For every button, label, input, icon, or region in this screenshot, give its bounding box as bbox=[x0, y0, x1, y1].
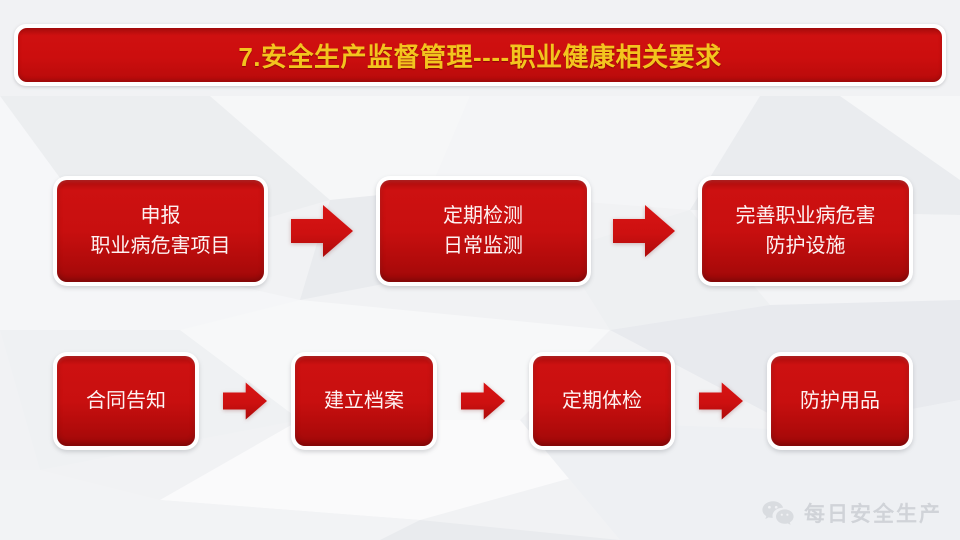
flow-node-protective-equipment[interactable]: 防护用品 bbox=[767, 352, 913, 450]
flow-node-line: 建立档案 bbox=[324, 387, 404, 415]
flow-node-periodic-physical-body: 定期体检 bbox=[533, 356, 671, 446]
wechat-icon bbox=[761, 500, 795, 526]
flow-node-build-archive[interactable]: 建立档案 bbox=[291, 352, 437, 450]
flow-node-line: 定期体检 bbox=[562, 387, 642, 415]
flow-row-1: 申报 职业病危害项目 定 bbox=[53, 176, 913, 286]
watermark: 每日安全生产 bbox=[761, 498, 942, 528]
slide-canvas: 7.安全生产监督管理----职业健康相关要求 申报 职业病危害项目 bbox=[0, 0, 960, 540]
flow-arrow-cell bbox=[675, 381, 767, 421]
flow-node-periodic-test[interactable]: 定期检测 日常监测 bbox=[376, 176, 591, 286]
arrow-right-icon bbox=[291, 203, 353, 259]
flow-node-line: 日常监测 bbox=[443, 231, 523, 261]
flow-node-protection-facility-body: 完善职业病危害 防护设施 bbox=[702, 180, 909, 282]
flow-node-build-archive-body: 建立档案 bbox=[295, 356, 433, 446]
arrow-right-icon bbox=[461, 381, 505, 421]
title-banner-inner: 7.安全生产监督管理----职业健康相关要求 bbox=[18, 28, 942, 82]
flow-node-periodic-physical[interactable]: 定期体检 bbox=[529, 352, 675, 450]
flow-node-periodic-test-body: 定期检测 日常监测 bbox=[380, 180, 587, 282]
flow-node-line: 防护用品 bbox=[800, 387, 880, 415]
flow-node-line: 完善职业病危害 bbox=[736, 201, 876, 231]
flow-arrow-cell bbox=[199, 381, 291, 421]
arrow-right-icon bbox=[613, 203, 675, 259]
watermark-text: 每日安全生产 bbox=[804, 498, 942, 528]
flow-node-declare-body: 申报 职业病危害项目 bbox=[57, 180, 264, 282]
flow-row-2: 合同告知 建立档案 定期体检 bbox=[53, 351, 913, 451]
flow-node-line: 职业病危害项目 bbox=[91, 231, 231, 261]
arrow-right-icon bbox=[223, 381, 267, 421]
flow-arrow-cell bbox=[268, 203, 376, 259]
page-title: 7.安全生产监督管理----职业健康相关要求 bbox=[238, 37, 721, 74]
flow-node-line: 定期检测 bbox=[443, 201, 523, 231]
flow-node-line: 合同告知 bbox=[86, 387, 166, 415]
flow-arrow-cell bbox=[591, 203, 699, 259]
flow-arrow-cell bbox=[437, 381, 529, 421]
flow-node-declare[interactable]: 申报 职业病危害项目 bbox=[53, 176, 268, 286]
flow-node-line: 防护设施 bbox=[766, 231, 846, 261]
flow-node-protection-facility[interactable]: 完善职业病危害 防护设施 bbox=[698, 176, 913, 286]
arrow-right-icon bbox=[699, 381, 743, 421]
title-banner: 7.安全生产监督管理----职业健康相关要求 bbox=[14, 24, 946, 86]
flow-node-protective-equipment-body: 防护用品 bbox=[771, 356, 909, 446]
flow-node-contract-notice-body: 合同告知 bbox=[57, 356, 195, 446]
flow-node-contract-notice[interactable]: 合同告知 bbox=[53, 352, 199, 450]
flow-node-line: 申报 bbox=[141, 201, 181, 231]
